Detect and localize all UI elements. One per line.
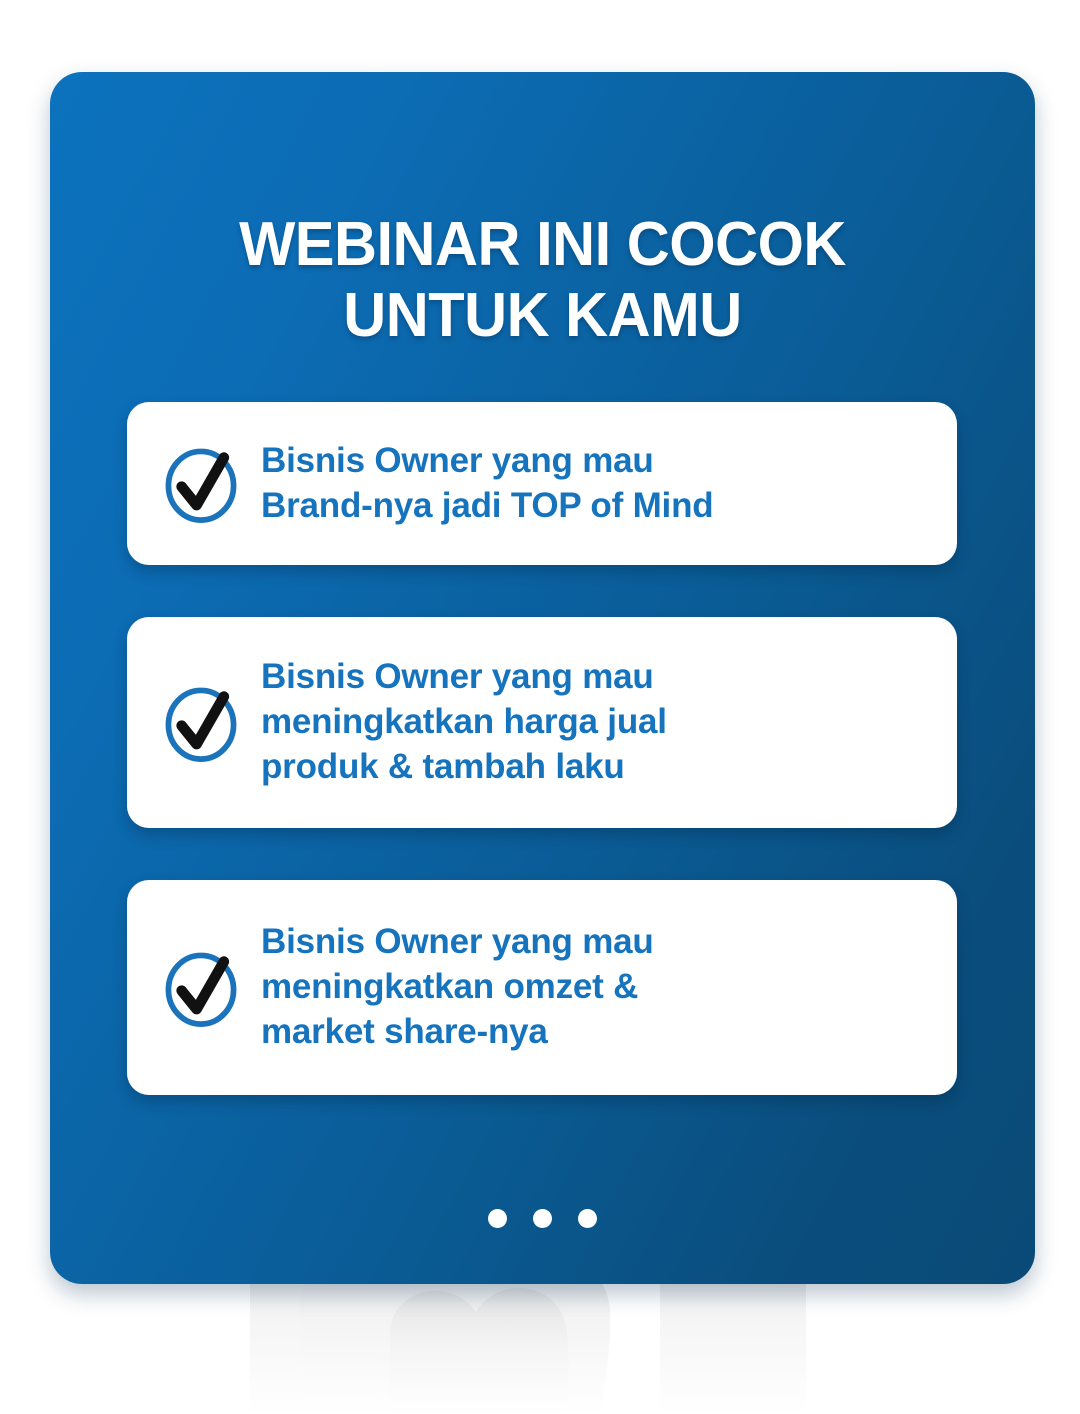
benefit-card-line-1: Bisnis Owner yang mau bbox=[261, 920, 654, 965]
page-title-line-1: WEBINAR INI COCOK bbox=[70, 209, 1016, 281]
page-title-line-2: UNTUK KAMU bbox=[70, 280, 1016, 352]
benefit-card-text: Bisnis Owner yang mau meningkatkan harga… bbox=[261, 655, 667, 789]
benefit-card[interactable]: Bisnis Owner yang mau meningkatkan omzet… bbox=[127, 880, 957, 1095]
benefit-card-line-2: meningkatkan harga jual bbox=[261, 700, 667, 745]
pagination-dots bbox=[50, 1209, 1035, 1228]
benefit-card[interactable]: Bisnis Owner yang mau Brand-nya jadi TOP… bbox=[127, 402, 957, 565]
benefit-card[interactable]: Bisnis Owner yang mau meningkatkan harga… bbox=[127, 617, 957, 828]
check-circle-icon bbox=[155, 677, 247, 769]
benefit-card-line-3: produk & tambah laku bbox=[261, 745, 667, 790]
pagination-dot-2[interactable] bbox=[533, 1209, 552, 1228]
benefit-card-list: Bisnis Owner yang mau Brand-nya jadi TOP… bbox=[127, 402, 957, 1095]
page-title: WEBINAR INI COCOK UNTUK KAMU bbox=[70, 209, 1016, 353]
slide-panel: WEBINAR INI COCOK UNTUK KAMU Bisnis Owne… bbox=[50, 72, 1035, 1284]
benefit-card-line-1: Bisnis Owner yang mau bbox=[261, 439, 713, 484]
benefit-card-line-1: Bisnis Owner yang mau bbox=[261, 655, 667, 700]
benefit-card-text: Bisnis Owner yang mau meningkatkan omzet… bbox=[261, 920, 654, 1054]
benefit-card-text: Bisnis Owner yang mau Brand-nya jadi TOP… bbox=[261, 439, 713, 529]
pagination-dot-3[interactable] bbox=[578, 1209, 597, 1228]
benefit-card-line-2: Brand-nya jadi TOP of Mind bbox=[261, 484, 713, 529]
check-circle-icon bbox=[155, 942, 247, 1034]
benefit-card-line-3: market share-nya bbox=[261, 1010, 654, 1055]
check-circle-icon bbox=[155, 438, 247, 530]
benefit-card-line-2: meningkatkan omzet & bbox=[261, 965, 654, 1010]
pagination-dot-1[interactable] bbox=[488, 1209, 507, 1228]
